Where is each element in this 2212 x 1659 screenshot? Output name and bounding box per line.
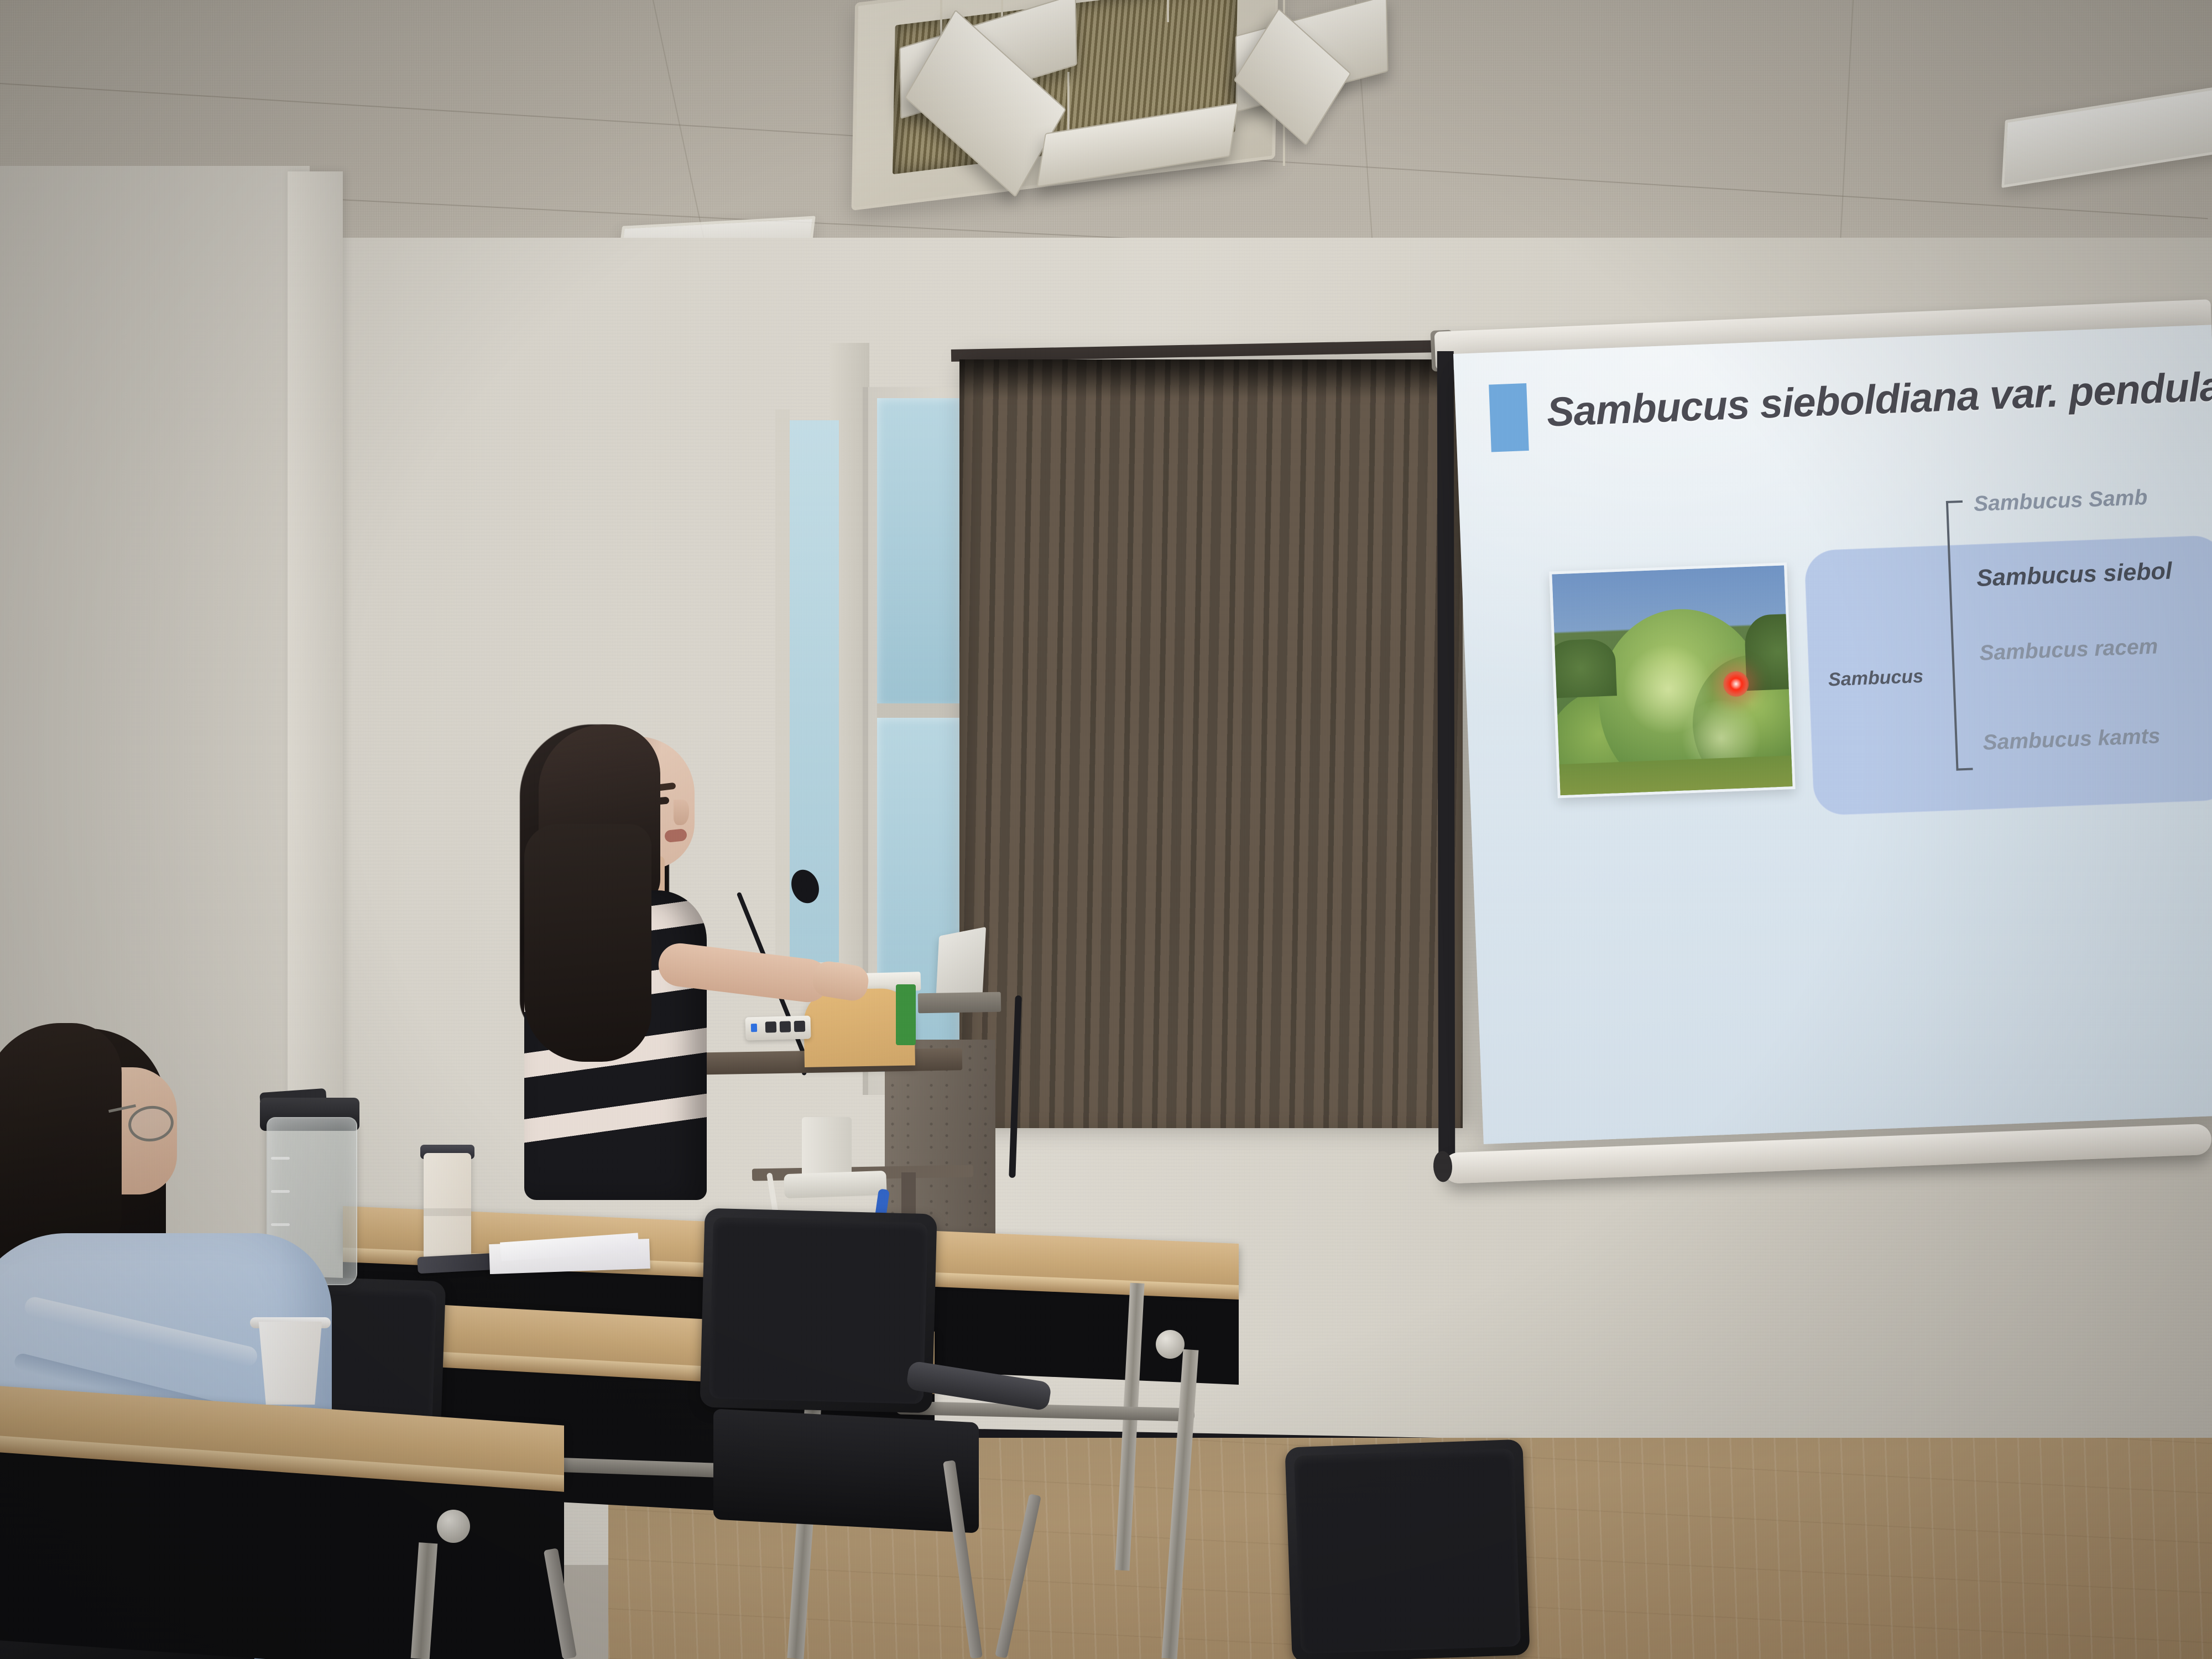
chair-backrest-panel <box>1294 1448 1521 1654</box>
window-glass <box>877 398 960 708</box>
tumbler-band <box>424 1208 471 1216</box>
species-item: Sambucus Samb <box>1973 486 2148 517</box>
chair-backrest[interactable] <box>700 1208 937 1413</box>
curtain-shadow <box>959 359 1463 398</box>
slide-title-latin: Sambucus sieboldiana var. pendula <box>1546 363 2212 435</box>
genus-label: Sambucus <box>1828 666 1923 691</box>
wall-pillar <box>288 171 343 1112</box>
bottle-measure-mark <box>271 1190 290 1193</box>
laptop-base <box>918 992 1001 1014</box>
presenter-nose <box>674 800 689 825</box>
status-led <box>751 1024 757 1032</box>
power-strip <box>784 1171 886 1198</box>
screen-left-border <box>1437 351 1455 1159</box>
chair-backrest-panel <box>709 1217 928 1404</box>
slide-title: Sambucus sieboldiana var. pendula ; 말오줌나… <box>1546 345 2212 438</box>
desk-fold-knob[interactable] <box>1156 1330 1185 1359</box>
laptop-screen <box>936 927 986 1003</box>
bottle-measure-mark <box>271 1223 290 1226</box>
control-button[interactable] <box>765 1021 777 1033</box>
green-device-box <box>896 984 916 1045</box>
paper-cup[interactable] <box>254 1322 326 1405</box>
projection-screen: Sambucus sieboldiana var. pendula ; 말오줌나… <box>1453 325 2212 1144</box>
distant-treeline <box>1549 638 1617 698</box>
control-button[interactable] <box>794 1021 806 1032</box>
control-box <box>745 1015 811 1040</box>
window-frame-left <box>775 409 790 968</box>
ac-vane-wire <box>1167 0 1169 22</box>
presenter-hair-length <box>524 824 651 1062</box>
desk-fold-knob[interactable] <box>437 1510 470 1543</box>
paper-roll <box>802 1117 852 1181</box>
chair-backrest[interactable] <box>1285 1439 1530 1659</box>
curtain-folds <box>959 359 1463 1128</box>
chair-seat[interactable] <box>713 1408 979 1533</box>
bottle-measure-mark <box>271 1157 290 1160</box>
plant-photograph <box>1549 562 1795 798</box>
attendee-hair-front <box>0 1023 122 1255</box>
classroom-presentation-photo: Sambucus sieboldiana var. pendula ; 말오줌나… <box>0 0 2212 1659</box>
presenter <box>514 713 747 1233</box>
slide: Sambucus sieboldiana var. pendula ; 말오줌나… <box>1453 325 2212 1144</box>
distant-treeline <box>1744 613 1796 691</box>
slide-title-accent-bar <box>1489 383 1529 452</box>
control-button[interactable] <box>780 1021 791 1032</box>
window-mullion <box>877 703 966 718</box>
